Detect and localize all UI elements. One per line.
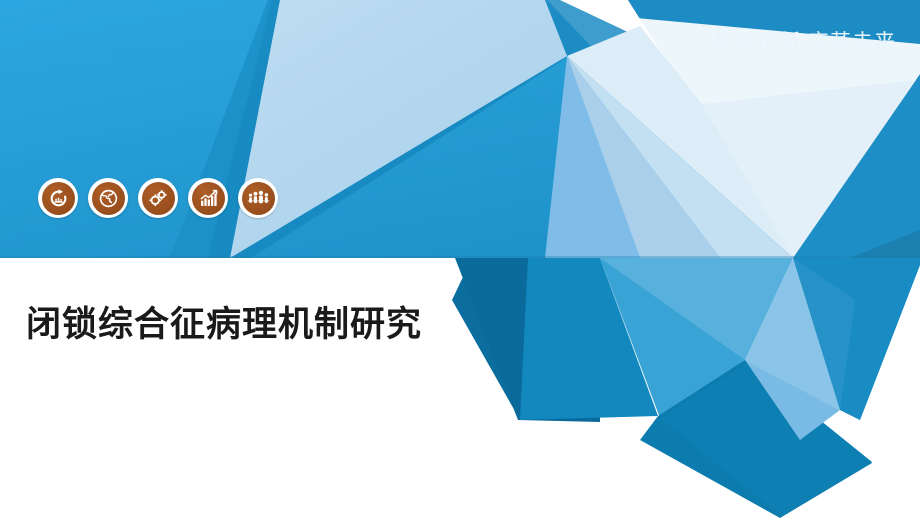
tagline-text: 数智创新 变革未来: [713, 26, 896, 56]
bar-chart-icon[interactable]: [188, 178, 228, 218]
slide-canvas: 数智创新 变革未来: [0, 0, 920, 518]
gears-icon[interactable]: [138, 178, 178, 218]
band-edge-line: [0, 256, 920, 258]
background-geometry: [0, 0, 920, 518]
refresh-cycle-icon-disc: [42, 182, 75, 215]
refresh-cycle-icon[interactable]: [38, 178, 78, 218]
icon-badge-row: [38, 178, 278, 218]
page-title: 闭锁综合征病理机制研究: [26, 296, 422, 347]
globe-icon-disc: [92, 182, 125, 215]
people-group-icon[interactable]: [238, 178, 278, 218]
gears-icon-disc: [142, 182, 175, 215]
bar-chart-icon-disc: [192, 182, 225, 215]
globe-icon[interactable]: [88, 178, 128, 218]
people-group-icon-disc: [242, 182, 275, 215]
